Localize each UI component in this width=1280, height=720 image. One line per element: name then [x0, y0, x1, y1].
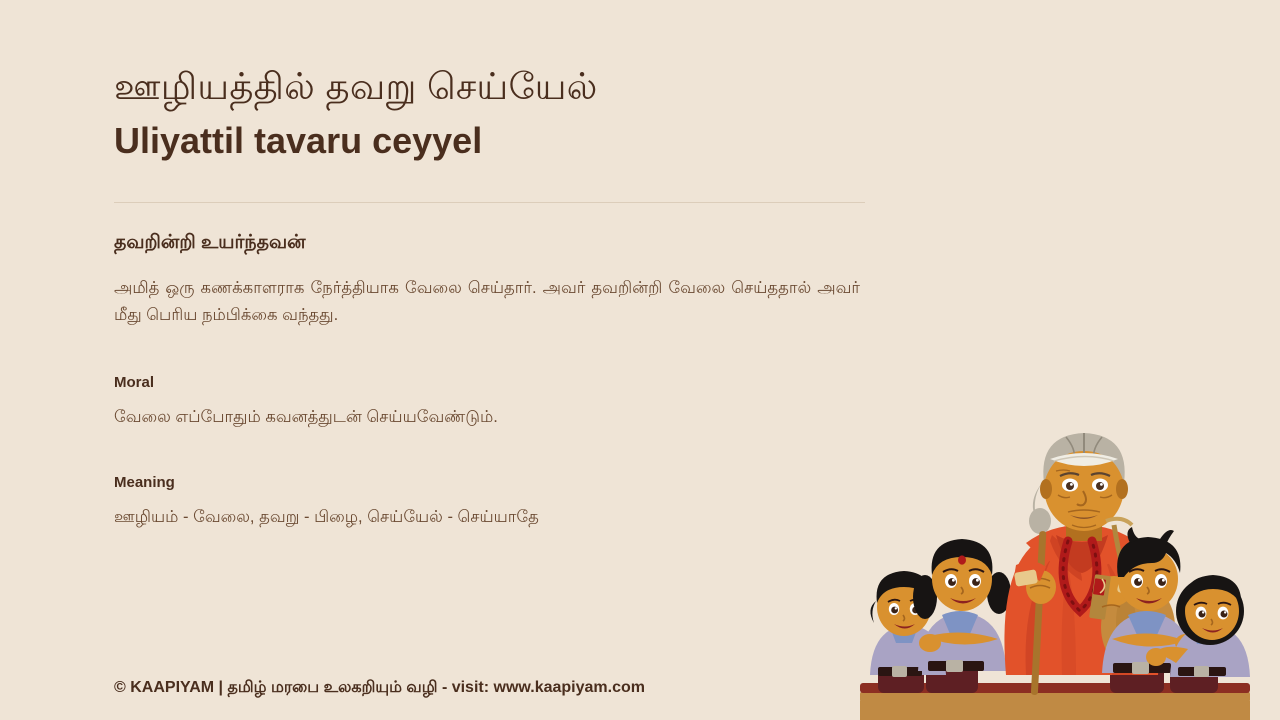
footer-credit: © KAAPIYAM | தமிழ் மரபை உலகறியும் வழி - …	[114, 678, 645, 698]
poster-page: ஊழியத்தில் தவறு செய்யேல் Uliyattil tavar…	[0, 0, 1280, 720]
story-illustration	[830, 375, 1280, 720]
moral-label: Moral	[114, 373, 874, 393]
moral-section: Moral வேலை எப்போதும் கவனத்துடன் செய்யவேண…	[114, 373, 874, 431]
story-subheading: தவறின்றி உயர்ந்தவன்	[114, 231, 874, 256]
content-column: ஊழியத்தில் தவறு செய்யேல் Uliyattil tavar…	[114, 64, 874, 531]
page-title-tamil: ஊழியத்தில் தவறு செய்யேல்	[114, 64, 874, 110]
meaning-section: Meaning ஊழியம் - வேலை, தவறு - பிழை, செய்…	[114, 473, 874, 531]
meaning-text: ஊழியம் - வேலை, தவறு - பிழை, செய்யேல் - ச…	[114, 505, 874, 531]
child-left	[913, 539, 1011, 672]
moral-text: வேலை எப்போதும் கவனத்துடன் செய்யவேண்டும்.	[114, 405, 874, 431]
page-title-transliteration: Uliyattil tavaru ceyyel	[114, 119, 874, 162]
title-divider	[114, 202, 865, 203]
meaning-label: Meaning	[114, 473, 874, 493]
story-body: அமித் ஒரு கணக்காளராக நேர்த்தியாக வேலை செ…	[114, 275, 860, 328]
